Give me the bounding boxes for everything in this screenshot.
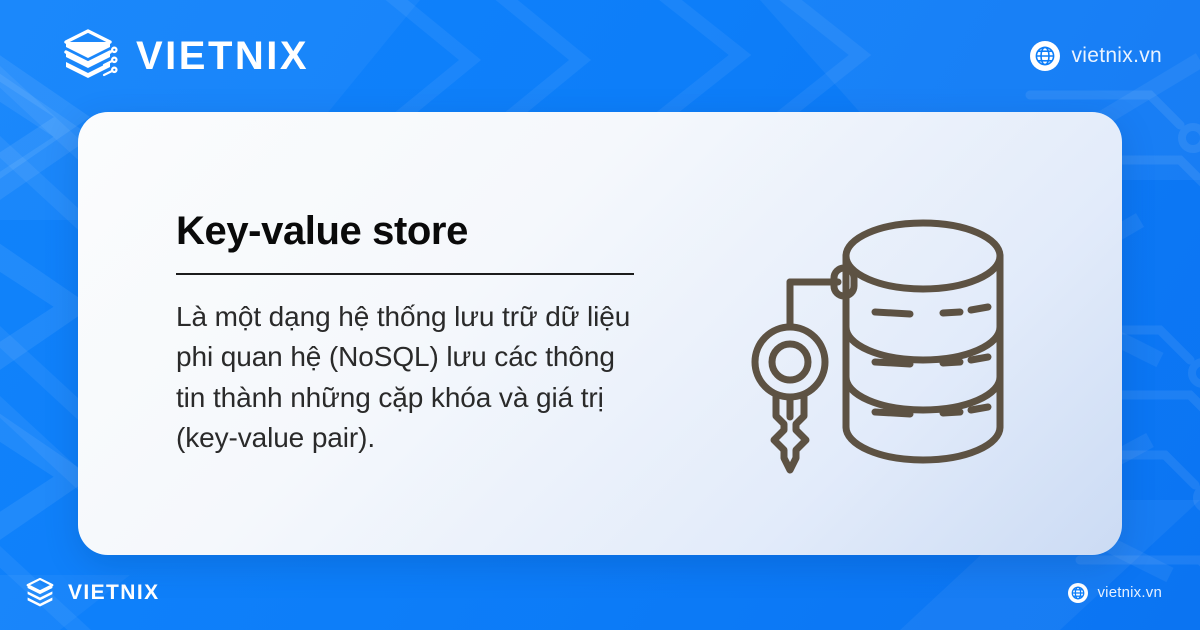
card-description: Là một dạng hệ thống lưu trữ dữ liệu phi… [176,297,644,458]
infographic-banner: VIETNIX vietnix.vn [0,0,1200,630]
footer-brand-name: VIETNIX [68,582,159,603]
footer-bar: VIETNIX vietnix.vn [0,555,1200,630]
brand-logo[interactable]: VIETNIX [56,24,309,88]
card-text-column: Key-value store Là một dạng hệ thống lưu… [176,209,656,458]
footer-website-link[interactable]: vietnix.vn [1068,583,1162,603]
footer-website-label: vietnix.vn [1097,584,1162,601]
header-bar: VIETNIX vietnix.vn [0,0,1200,112]
stacked-layers-logo-icon [56,24,120,88]
globe-icon [1068,583,1088,603]
footer-brand-logo[interactable]: VIETNIX [22,575,159,611]
database-with-key-icon [738,184,1038,484]
title-divider [176,273,634,275]
brand-name: VIETNIX [136,36,309,76]
content-card: Key-value store Là một dạng hệ thống lưu… [78,112,1122,555]
page-title: Key-value store [176,209,656,253]
website-label: vietnix.vn [1071,44,1162,68]
globe-icon [1030,41,1060,71]
stacked-layers-logo-icon [22,575,58,611]
website-link[interactable]: vietnix.vn [1030,41,1162,71]
